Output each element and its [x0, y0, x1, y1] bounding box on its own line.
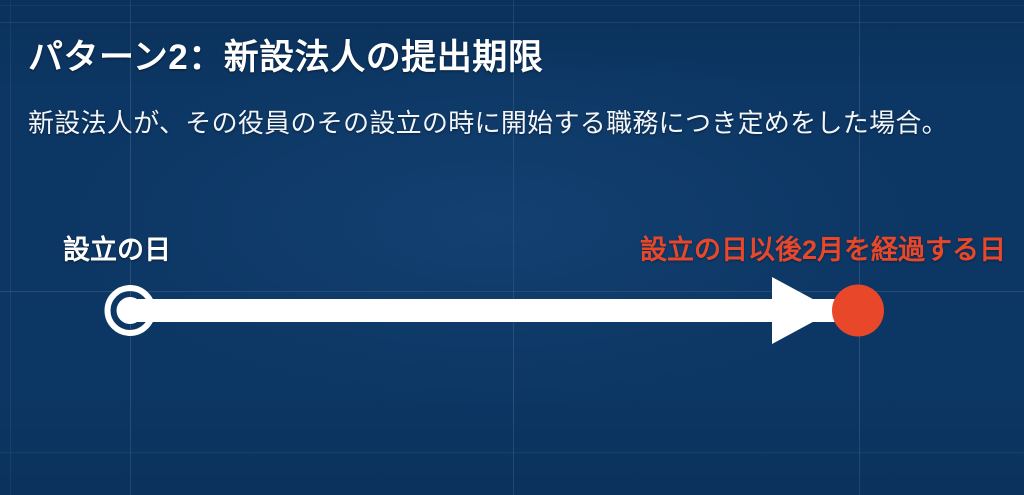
page-subtitle: 新設法人が、その役員のその設立の時に開始する職務につき定めをした場合。 — [28, 103, 948, 140]
timeline-end-label: 設立の日以後2月を経過する日 — [640, 228, 1006, 267]
timeline-start-marker — [108, 288, 153, 333]
timeline-start-label: 設立の日 — [63, 228, 171, 267]
grid-line-horizontal — [0, 452, 1024, 453]
page-title: パターン2：新設法人の提出期限 — [28, 29, 543, 80]
timeline-arrow — [130, 277, 840, 344]
grid-line-horizontal — [0, 5, 1024, 6]
timeline-end-marker — [832, 285, 884, 337]
slide-canvas: パターン2：新設法人の提出期限 新設法人が、その役員のその設立の時に開始する職務… — [0, 0, 1024, 495]
grid-line-vertical — [10, 0, 11, 495]
grid-line-horizontal — [0, 22, 1024, 23]
grid-line-horizontal — [0, 291, 1024, 292]
